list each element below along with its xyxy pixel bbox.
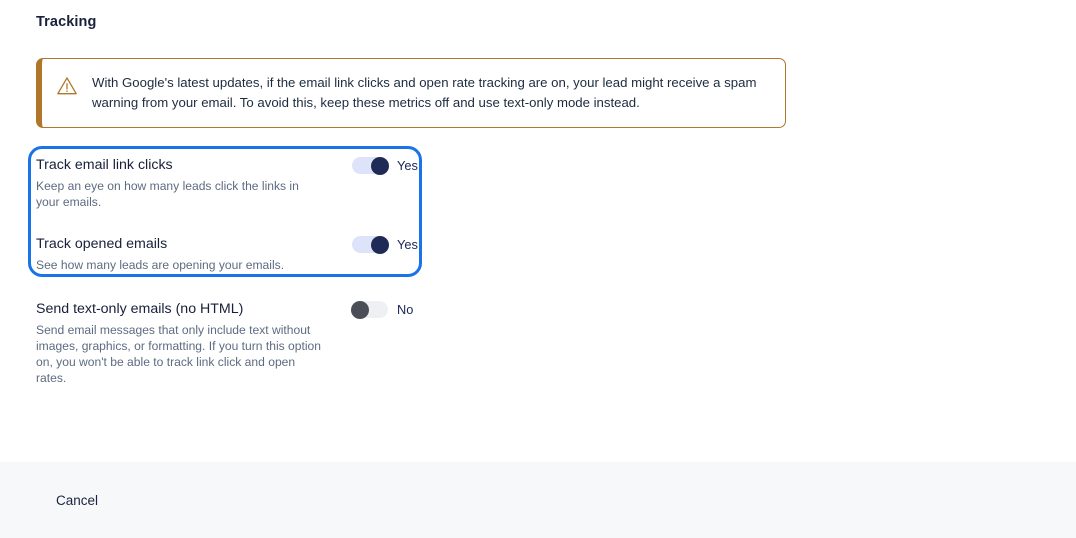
setting-description: Keep an eye on how many leads click the … <box>36 178 321 210</box>
cancel-button[interactable]: Cancel <box>52 487 102 514</box>
toggle-knob <box>371 236 389 254</box>
toggle-send-text-only-emails[interactable] <box>352 301 388 318</box>
toggle-knob <box>351 301 369 319</box>
toggle-wrap-track-opened-emails: Yes <box>352 236 418 253</box>
toggle-wrap-send-text-only-emails: No <box>352 301 413 318</box>
footer-bar: Cancel <box>0 462 1076 538</box>
toggle-state-label: No <box>397 302 413 317</box>
warning-triangle-icon <box>56 75 78 97</box>
setting-row-track-email-link-clicks: Track email link clicks Keep an eye on h… <box>36 156 336 210</box>
page-title: Tracking <box>36 14 96 30</box>
setting-title: Track email link clicks <box>36 156 336 175</box>
setting-texts: Send text-only emails (no HTML) Send ema… <box>36 300 336 386</box>
toggle-track-email-link-clicks[interactable] <box>352 157 388 174</box>
banner-message: With Google's latest updates, if the ema… <box>92 73 771 113</box>
setting-row-send-text-only-emails: Send text-only emails (no HTML) Send ema… <box>36 300 336 386</box>
toggle-state-label: Yes <box>397 237 418 252</box>
setting-title: Send text-only emails (no HTML) <box>36 300 336 319</box>
setting-title: Track opened emails <box>36 235 336 254</box>
setting-texts: Track opened emails See how many leads a… <box>36 235 336 273</box>
toggle-state-label: Yes <box>397 158 418 173</box>
tracking-warning-banner: With Google's latest updates, if the ema… <box>36 58 786 128</box>
toggle-wrap-track-email-link-clicks: Yes <box>352 157 418 174</box>
toggle-track-opened-emails[interactable] <box>352 236 388 253</box>
setting-texts: Track email link clicks Keep an eye on h… <box>36 156 336 210</box>
setting-row-track-opened-emails: Track opened emails See how many leads a… <box>36 235 336 273</box>
setting-description: See how many leads are opening your emai… <box>36 257 321 273</box>
setting-description: Send email messages that only include te… <box>36 322 321 386</box>
toggle-knob <box>371 157 389 175</box>
